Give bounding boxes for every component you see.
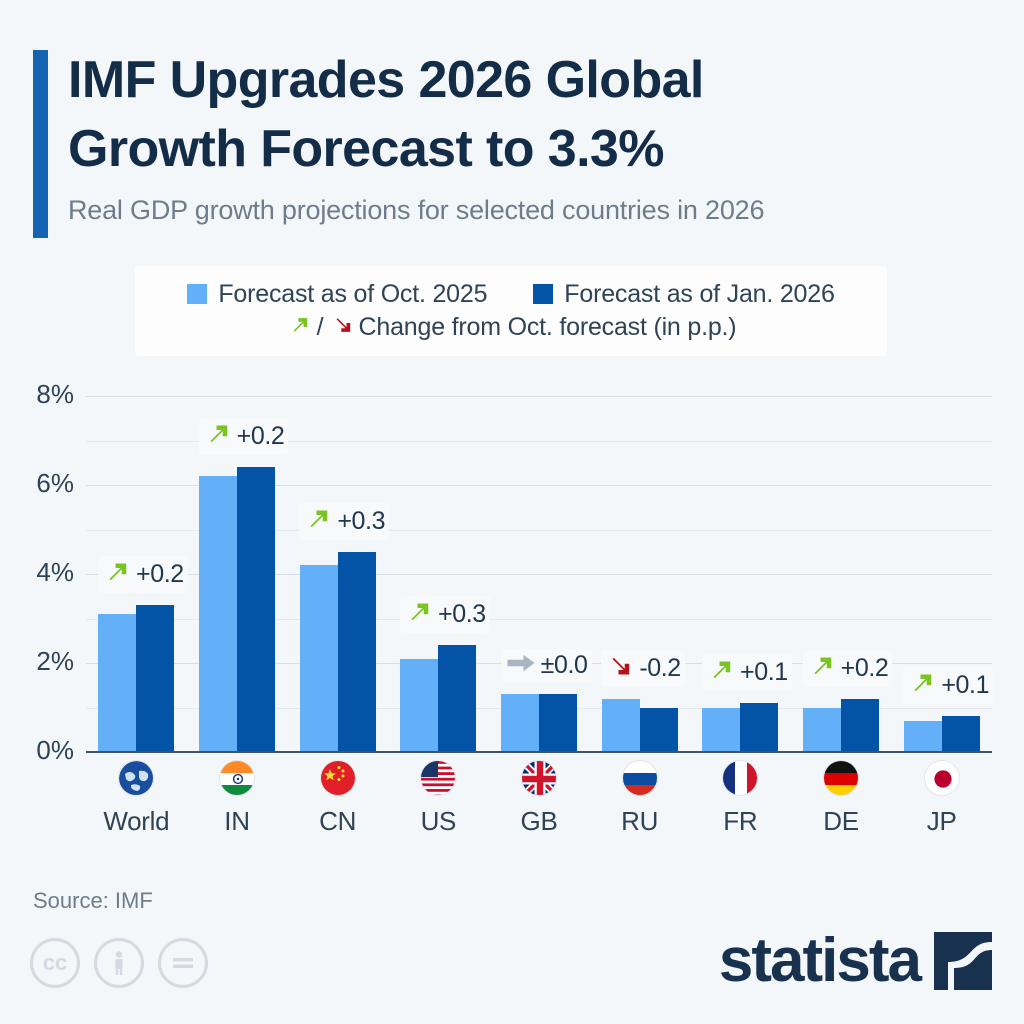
x-axis-item: IN — [182, 760, 292, 837]
x-axis-label: FR — [685, 806, 795, 837]
change-label: +0.3 — [299, 503, 389, 540]
change-label: ±0.0 — [501, 649, 592, 682]
bar-jan-2026[interactable] — [740, 703, 778, 752]
bar-group[interactable]: +0.3 — [388, 396, 489, 752]
bar-oct-2025[interactable] — [602, 699, 640, 752]
statista-wordmark: statista — [719, 930, 920, 992]
change-label: +0.2 — [199, 418, 289, 455]
x-axis-item: DE — [786, 760, 896, 837]
bars — [589, 396, 690, 752]
change-label: +0.1 — [903, 667, 993, 704]
bar-oct-2025[interactable] — [400, 659, 438, 752]
arrow-flat-icon — [505, 650, 537, 681]
x-axis-label: World — [81, 806, 191, 837]
bar-jan-2026[interactable] — [539, 694, 577, 752]
y-axis-tick-label: 2% — [8, 646, 74, 677]
bar-jan-2026[interactable] — [942, 716, 980, 752]
bar-group[interactable]: +0.1 — [690, 396, 791, 752]
bar-group[interactable]: ±0.0 — [489, 396, 590, 752]
arrow-up-icon — [102, 557, 132, 592]
bar-jan-2026[interactable] — [841, 699, 879, 752]
arrow-up-icon — [203, 419, 233, 454]
license-icons: cc — [30, 938, 208, 988]
x-axis-label: US — [383, 806, 493, 837]
germany-flag — [823, 760, 859, 796]
arrow-up-icon — [907, 668, 937, 703]
y-axis-tick-label: 8% — [8, 379, 74, 410]
bar-oct-2025[interactable] — [98, 614, 136, 752]
x-axis-label: DE — [786, 806, 896, 837]
bar-group[interactable]: +0.2 — [791, 396, 892, 752]
change-label: +0.2 — [803, 650, 893, 687]
russia-flag — [622, 760, 658, 796]
bar-oct-2025[interactable] — [199, 476, 237, 752]
change-label: +0.3 — [400, 596, 490, 633]
india-flag — [219, 760, 255, 796]
arrow-down-icon — [605, 651, 635, 686]
bar-group[interactable]: +0.2 — [187, 396, 288, 752]
bars — [388, 396, 489, 752]
bar-oct-2025[interactable] — [904, 721, 942, 752]
change-value: +0.1 — [941, 671, 989, 700]
statista-mark-icon — [934, 932, 992, 990]
y-axis-tick-label: 4% — [8, 557, 74, 588]
change-value: ±0.0 — [541, 651, 588, 680]
x-axis-label: IN — [182, 806, 292, 837]
china-flag — [320, 760, 356, 796]
x-axis-item: World — [81, 760, 191, 837]
bar-oct-2025[interactable] — [501, 694, 539, 752]
bar-oct-2025[interactable] — [803, 708, 841, 753]
arrow-up-icon — [404, 597, 434, 632]
bar-group[interactable]: +0.2 — [86, 396, 187, 752]
change-value: -0.2 — [639, 654, 680, 683]
bar-jan-2026[interactable] — [438, 645, 476, 752]
source-note: Source: IMF — [33, 888, 153, 914]
usa-flag — [420, 760, 456, 796]
change-label: +0.1 — [702, 654, 792, 691]
y-axis-tick-label: 0% — [8, 735, 74, 766]
x-axis-item: US — [383, 760, 493, 837]
cc-icon: cc — [30, 938, 80, 988]
bars — [791, 396, 892, 752]
change-value: +0.2 — [841, 654, 889, 683]
x-axis-label: RU — [585, 806, 695, 837]
bar-oct-2025[interactable] — [702, 708, 740, 753]
bar-chart: 0%2%4%6%8% +0.2+0.2+0.3+0.3±0.0-0.2+0.1+… — [0, 0, 1024, 1024]
x-axis-item: FR — [685, 760, 795, 837]
x-axis-item: GB — [484, 760, 594, 837]
cc-by-icon — [94, 938, 144, 988]
bars — [690, 396, 791, 752]
bars — [287, 396, 388, 752]
bar-jan-2026[interactable] — [237, 467, 275, 752]
bar-jan-2026[interactable] — [640, 708, 678, 753]
change-label: +0.2 — [98, 556, 188, 593]
uk-flag — [521, 760, 557, 796]
x-axis-line — [86, 751, 992, 753]
change-value: +0.2 — [136, 560, 184, 589]
cc-nd-icon — [158, 938, 208, 988]
change-value: +0.3 — [438, 600, 486, 629]
y-axis-tick-label: 6% — [8, 468, 74, 499]
bar-group[interactable]: +0.1 — [891, 396, 992, 752]
bar-oct-2025[interactable] — [300, 565, 338, 752]
arrow-up-icon — [303, 504, 333, 539]
x-axis-label: JP — [887, 806, 997, 837]
x-axis-label: CN — [283, 806, 393, 837]
change-label: -0.2 — [601, 650, 684, 687]
bar-jan-2026[interactable] — [136, 605, 174, 752]
statista-logo: statista — [719, 930, 992, 992]
bar-group[interactable]: -0.2 — [589, 396, 690, 752]
bars — [489, 396, 590, 752]
x-axis-item: RU — [585, 760, 695, 837]
world-flag — [118, 760, 154, 796]
change-value: +0.2 — [237, 422, 285, 451]
x-axis-label: GB — [484, 806, 594, 837]
arrow-up-icon — [807, 651, 837, 686]
bar-jan-2026[interactable] — [338, 552, 376, 752]
change-value: +0.3 — [337, 507, 385, 536]
france-flag — [722, 760, 758, 796]
change-value: +0.1 — [740, 658, 788, 687]
arrow-up-icon — [706, 655, 736, 690]
x-axis-item: CN — [283, 760, 393, 837]
plot-area: 0%2%4%6%8% +0.2+0.2+0.3+0.3±0.0-0.2+0.1+… — [86, 396, 992, 752]
x-axis-item: JP — [887, 760, 997, 837]
bar-group[interactable]: +0.3 — [287, 396, 388, 752]
japan-flag — [924, 760, 960, 796]
